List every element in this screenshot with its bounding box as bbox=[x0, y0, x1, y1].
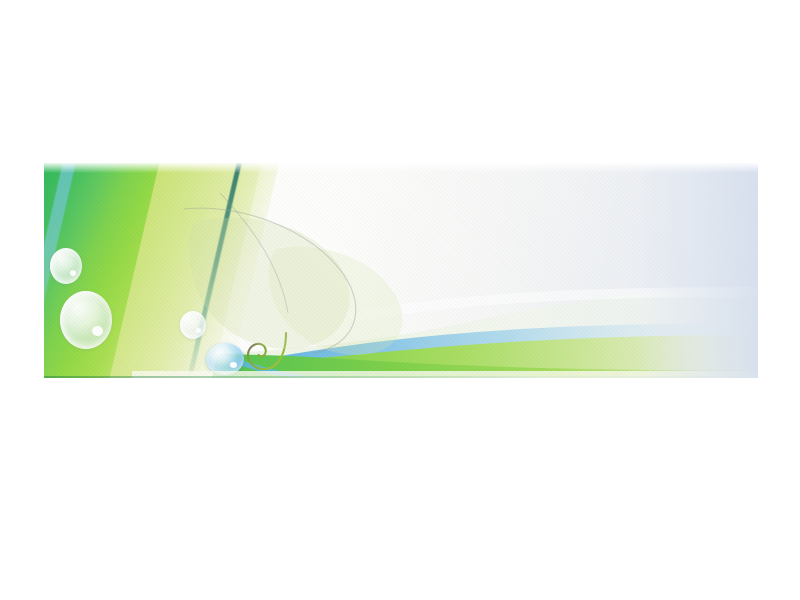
droplet-lower-left-icon bbox=[60, 291, 112, 349]
droplet-small-center-icon bbox=[180, 311, 206, 339]
bottom-edge-line bbox=[44, 376, 758, 378]
screenshot-canvas: Ingredients: olive oil, goat’s milk, ric… bbox=[0, 0, 800, 600]
right-edge-shading bbox=[638, 163, 758, 378]
product-package-panel: Ingredients: olive oil, goat’s milk, ric… bbox=[44, 163, 758, 378]
droplet-upper-left-icon bbox=[50, 248, 82, 284]
top-edge-sheen bbox=[44, 163, 758, 173]
